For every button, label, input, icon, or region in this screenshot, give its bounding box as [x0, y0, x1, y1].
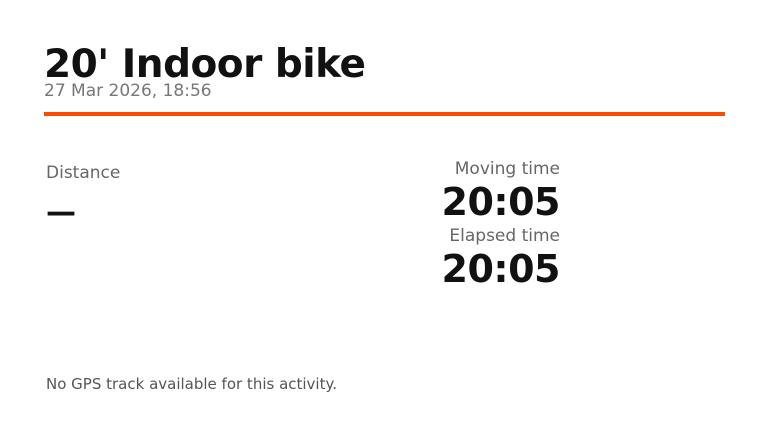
stat-moving-time-value: 20:05 [442, 181, 560, 223]
stat-distance-value: — [46, 196, 120, 230]
stat-elapsed-time: Elapsed time 20:05 [442, 225, 560, 290]
stat-distance-label: Distance [46, 162, 120, 184]
stats-section: Distance — Moving time 20:05 Elapsed tim… [0, 150, 768, 310]
activity-summary-page: 20' Indoor bike 27 Mar 2026, 18:56 Dista… [0, 0, 768, 429]
map-empty-message: No GPS track available for this activity… [46, 374, 337, 394]
stat-distance: Distance — [46, 162, 120, 230]
page-title: 20' Indoor bike [44, 44, 725, 86]
accent-divider [44, 112, 725, 116]
activity-date: 27 Mar 2026, 18:56 [44, 82, 725, 100]
stat-elapsed-time-label: Elapsed time [442, 225, 560, 248]
activity-header: 20' Indoor bike 27 Mar 2026, 18:56 [44, 44, 725, 100]
stat-elapsed-time-value: 20:05 [442, 248, 560, 290]
stat-times-group: Moving time 20:05 Elapsed time 20:05 [442, 158, 560, 290]
stat-moving-time: Moving time 20:05 [442, 158, 560, 223]
stat-moving-time-label: Moving time [442, 158, 560, 181]
